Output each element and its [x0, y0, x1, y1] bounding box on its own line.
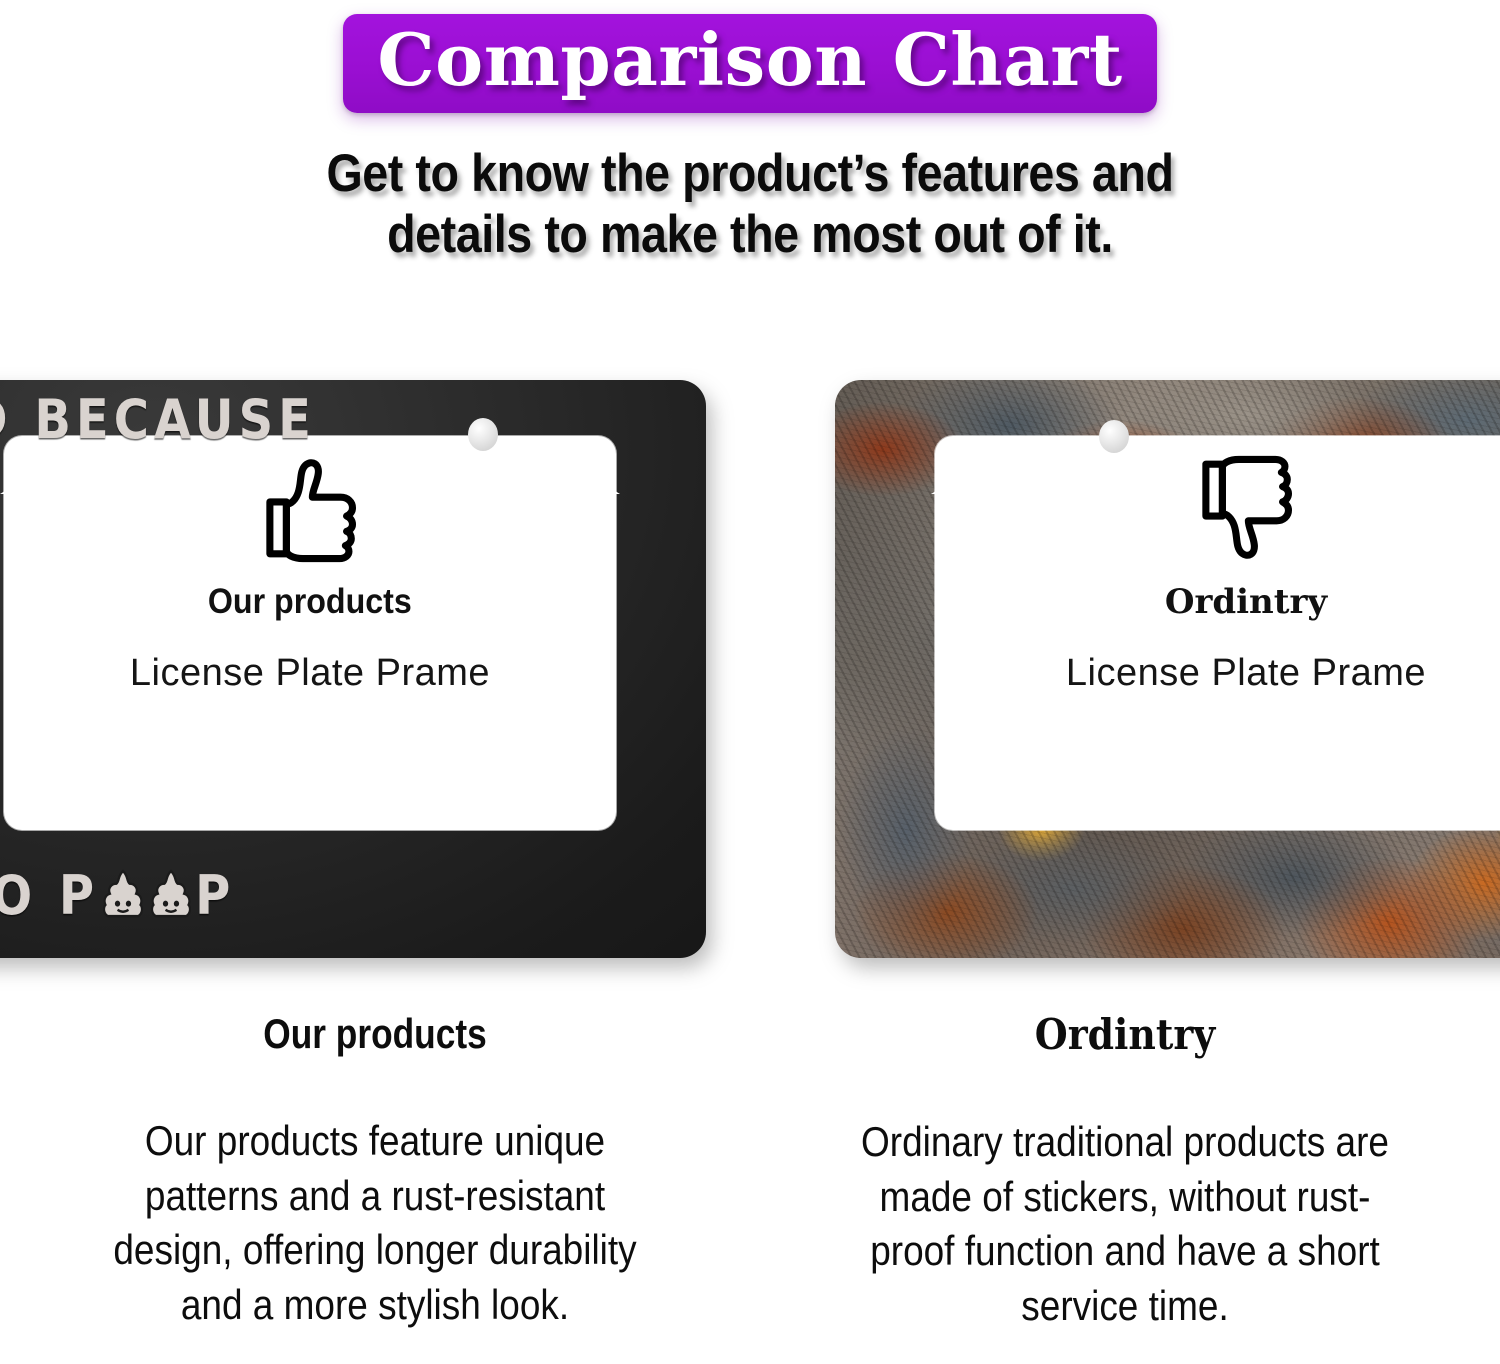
comparison-heading-ours: Our products	[109, 1010, 642, 1058]
plate-caption-top-text: PEED BECAUSE	[0, 388, 316, 452]
plate-window: Our products License Plate Prame	[4, 436, 616, 830]
poop-emoji-icon-2	[149, 869, 193, 921]
subtitle-line-2: details to make the most out of it.	[213, 204, 1287, 265]
frame-subtitle-right: License Plate Prame	[1066, 652, 1426, 695]
product-frames-row: PEED BECAUSE VE TO PP Our products Licen…	[0, 380, 1500, 960]
plate-caption-bottom-text: VE TO P	[0, 864, 99, 928]
comparison-column-ours: Our products Our products feature unique…	[0, 1010, 750, 1333]
plate-caption-top: PEED BECAUSE	[0, 388, 316, 452]
frame-title-left: Our products	[208, 582, 412, 622]
thumbs-down-icon	[1186, 450, 1306, 568]
comparison-column-ordinary: Ordintry Ordinary traditional products a…	[750, 1010, 1500, 1333]
frame-title-right: Ordintry	[1165, 582, 1327, 622]
plate-caption-bottom: VE TO PP	[0, 864, 235, 928]
comparison-heading-ordinary: Ordintry	[840, 1010, 1411, 1059]
mounting-hole-icon-right	[1099, 420, 1129, 453]
plate-window-content: Our products License Plate Prame	[4, 436, 616, 830]
title-banner: Comparison Chart	[343, 14, 1156, 113]
page-subtitle: Get to know the product’s features and d…	[213, 143, 1287, 266]
comparison-body-ordinary: Ordinary traditional products are made o…	[846, 1115, 1404, 1333]
ordinary-product-frame: Ordintry License Plate Prame	[835, 380, 1500, 958]
page-title: Comparison Chart	[377, 20, 1122, 101]
comparison-text-row: Our products Our products feature unique…	[0, 1010, 1500, 1333]
plate-caption-bottom-tail: P	[195, 864, 235, 928]
thumbs-up-icon	[250, 450, 370, 568]
plate-window-content-right: Ordintry License Plate Prame	[935, 436, 1500, 830]
subtitle-line-1: Get to know the product’s features and	[213, 143, 1287, 204]
plate-window-right: Ordintry License Plate Prame	[935, 436, 1500, 830]
frame-subtitle-left: License Plate Prame	[130, 652, 490, 695]
our-product-frame: PEED BECAUSE VE TO PP Our products Licen…	[0, 380, 706, 958]
header: Comparison Chart	[0, 0, 1500, 113]
comparison-body-ours: Our products feature unique patterns and…	[96, 1114, 654, 1332]
mounting-hole-icon	[468, 418, 498, 451]
poop-emoji-icon	[101, 869, 145, 921]
